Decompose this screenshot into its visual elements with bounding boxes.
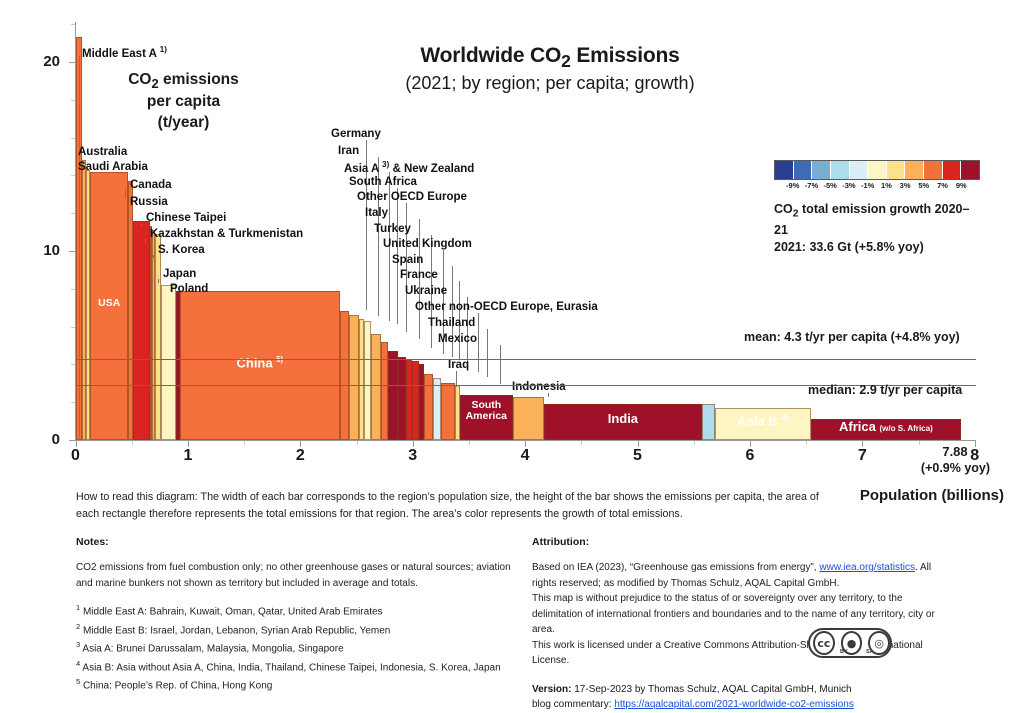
bar-thailand: [433, 378, 441, 440]
color-scale-cell: [924, 161, 943, 179]
leader-line: [500, 345, 501, 384]
bar-outside-label: Asia A 3) & New Zealand: [344, 160, 474, 175]
color-scale-cell: [794, 161, 813, 179]
bar-outside-label: Iraq: [448, 359, 469, 371]
bar-south-america: [460, 395, 513, 440]
footnote-list: 1 Middle East A: Bahrain, Kuwait, Oman, …: [76, 602, 516, 695]
legend-caption: CO2 total emission growth 2020–21 2021: …: [774, 201, 980, 256]
footnote-item: 3 Asia A: Brunei Darussalam, Malaysia, M…: [76, 639, 516, 658]
version-label: Version:: [532, 684, 571, 695]
bar-outside-label: United Kingdom: [383, 238, 472, 250]
bar-outside-label: Indonesia: [512, 381, 566, 393]
color-scale-cell: [887, 161, 906, 179]
leader-line: [153, 255, 154, 258]
bar-outside-label: Kazakhstan & Turkmenistan: [150, 228, 303, 240]
bar-outside-label: Australia: [78, 146, 127, 158]
color-scale-cell: [831, 161, 850, 179]
notes-body: CO2 emissions from fuel combustion only;…: [76, 560, 516, 591]
color-scale-tick-label: -9%: [786, 181, 799, 190]
footnote-item: 2 Middle East B: Israel, Jordan, Lebanon…: [76, 621, 516, 640]
color-scale-tick-label: 7%: [937, 181, 948, 190]
bar-iran: [349, 315, 359, 440]
bar-china: [180, 291, 340, 440]
bar-russia: [133, 221, 150, 440]
population-total-value: 7.88: [925, 444, 985, 459]
leader-line: [125, 190, 126, 198]
median-reference-label: median: 2.9 t/yr per capita: [808, 383, 962, 397]
leader-line: [548, 393, 549, 397]
bar-outside-label: France: [400, 269, 438, 281]
version-text: 17-Sep-2023 by Thomas Schulz, AQAL Capit…: [571, 684, 851, 695]
bar-outside-label: Germany: [331, 128, 381, 140]
bar-japan: [161, 285, 176, 440]
attribution-line2: This map is without prejudice to the sta…: [532, 591, 952, 638]
bar-outside-label: Russia: [130, 196, 168, 208]
creative-commons-badge-icon: cc ● ◎ BY SA: [808, 628, 892, 658]
color-scale-cell: [850, 161, 869, 179]
color-scale-tick-label: 3%: [900, 181, 911, 190]
bar-outside-label: Ukraine: [405, 285, 447, 297]
color-scale-cell: [943, 161, 962, 179]
notes-block: Notes: CO2 emissions from fuel combustio…: [76, 536, 516, 695]
bar-outside-label: Italy: [365, 207, 388, 219]
color-scale-tick-label: 1%: [881, 181, 892, 190]
color-scale-tick-label: -5%: [824, 181, 837, 190]
bar-outside-label: Turkey: [374, 223, 411, 235]
y-axis-title-line2: per capita: [86, 92, 281, 112]
color-scale-cell: [775, 161, 794, 179]
bar-outside-label: Canada: [130, 179, 172, 191]
bar-outside-label: Spain: [392, 254, 423, 266]
legend-caption-line2: 2021: 33.6 Gt (+5.8% yoy): [774, 239, 980, 256]
blog-commentary-link[interactable]: https://aqalcapital.com/2021-worldwide-c…: [614, 699, 854, 710]
mean-reference-line: [76, 359, 977, 360]
bar-germany: [340, 311, 349, 440]
how-to-read-text: How to read this diagram: The width of e…: [76, 489, 836, 522]
mean-reference-label: mean: 4.3 t/yr per capita (+4.8% yoy): [744, 330, 960, 344]
bar-south-africa: [364, 321, 371, 440]
footnote-item: 4 Asia B: Asia without Asia A, China, In…: [76, 658, 516, 677]
bar-outside-label: Chinese Taipei: [146, 212, 226, 224]
bar-outside-label: Other OECD Europe: [357, 191, 467, 203]
x-axis-title: Population (billions): [860, 487, 1004, 504]
footnote-item: 1 Middle East A: Bahrain, Kuwait, Oman, …: [76, 602, 516, 621]
bar-turkey: [388, 351, 398, 440]
bar-united-kingdom: [398, 357, 406, 440]
bar-outside-label: Saudi Arabia: [78, 161, 148, 173]
cc-icon: cc: [813, 631, 835, 655]
color-scale-tick-label: -1%: [861, 181, 874, 190]
bar-outside-label: Poland: [170, 283, 208, 295]
color-scale-cell: [868, 161, 887, 179]
bar-other-oecd-europe: [371, 334, 381, 440]
bar-indonesia: [513, 397, 544, 440]
population-total-yoy: (+0.9% yoy): [908, 461, 1003, 475]
bar-outside-label: Middle East A 1): [82, 45, 167, 60]
color-scale-bar: [774, 160, 980, 180]
color-legend: -9%-7%-5%-3%-1%1%3%5%7%9% CO2 total emis…: [774, 160, 980, 256]
bar-outside-label: Mexico: [438, 333, 477, 345]
chart-title: Worldwide CO2 Emissions: [330, 44, 770, 72]
y-axis-title-line1: CO2 emissions: [86, 70, 281, 92]
bar-outside-label: Iran: [338, 145, 359, 157]
color-scale-tick-label: 5%: [918, 181, 929, 190]
bar-france: [412, 361, 420, 440]
cc-by-label: BY: [840, 649, 848, 655]
bar-mexico: [441, 383, 456, 440]
attribution-body: Based on IEA (2023), “Greenhouse gas emi…: [532, 560, 952, 669]
bar-italy: [381, 342, 388, 440]
leader-line: [478, 313, 479, 372]
bar-outside-label: Other non-OECD Europe, Eurasia: [415, 301, 598, 313]
bar-africa: [811, 419, 962, 440]
blog-line: blog commentary: https://aqalcapital.com…: [532, 697, 952, 713]
blog-label: blog commentary:: [532, 699, 614, 710]
color-scale-tick-label: 9%: [956, 181, 967, 190]
bar-middle-east-b: [702, 404, 715, 440]
bar-outside-label: South Africa: [349, 176, 417, 188]
leader-line: [158, 279, 159, 283]
bar-india: [544, 404, 701, 440]
color-scale-tick-label: -3%: [842, 181, 855, 190]
leader-line: [487, 329, 488, 377]
bar-usa: [90, 172, 128, 440]
color-scale-ticks: -9%-7%-5%-3%-1%1%3%5%7%9%: [774, 181, 980, 194]
bar-other-non-oecd-europe-eurasia: [424, 374, 433, 440]
leader-line: [79, 56, 80, 440]
attribution-block: Attribution: Based on IEA (2023), “Green…: [532, 536, 952, 713]
chart-subtitle: (2021; by region; per capita; growth): [320, 73, 780, 94]
notes-heading: Notes:: [76, 536, 516, 548]
color-scale-cell: [961, 161, 979, 179]
color-scale-cell: [812, 161, 831, 179]
legend-caption-line1: CO2 total emission growth 2020–21: [774, 201, 980, 239]
y-axis-title: CO2 emissions per capita (t/year): [86, 70, 281, 133]
bar-outside-label: Thailand: [428, 317, 475, 329]
footnote-item: 5 China: People’s Rep. of China, Hong Ko…: [76, 676, 516, 695]
attribution-heading: Attribution:: [532, 536, 952, 548]
leader-line: [145, 239, 146, 243]
chart-page: 01020 012345678 USAChina 5)SouthAmericaI…: [0, 0, 1024, 683]
y-axis-title-line3: (t/year): [86, 113, 281, 133]
bar-outside-label: Japan: [163, 268, 196, 280]
version-line: Version: 17-Sep-2023 by Thomas Schulz, A…: [532, 682, 952, 698]
footer: Notes: CO2 emissions from fuel combustio…: [0, 536, 1024, 683]
color-scale-cell: [905, 161, 924, 179]
color-scale-tick-label: -7%: [805, 181, 818, 190]
bar-asia-b: [715, 408, 811, 440]
bar-outside-label: S. Korea: [158, 244, 205, 256]
cc-sa-label: SA: [866, 649, 874, 655]
leader-line: [141, 223, 142, 226]
attribution-line1a: Based on IEA (2023), “Greenhouse gas emi…: [532, 562, 819, 573]
version-block: Version: 17-Sep-2023 by Thomas Schulz, A…: [532, 682, 952, 713]
iea-statistics-link[interactable]: www.iea.org/statistics: [819, 562, 915, 573]
